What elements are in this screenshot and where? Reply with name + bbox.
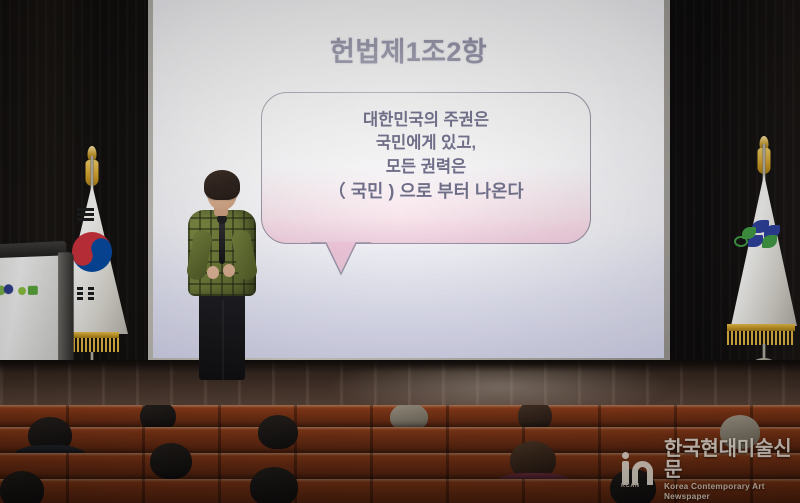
speaker-person	[183, 172, 261, 380]
speaker-right-hand	[223, 264, 235, 277]
speaker-hair	[204, 170, 240, 200]
speaker-left-hand	[207, 266, 219, 279]
institution-logo-icon	[742, 220, 782, 250]
watermark-korean: 한국현대미술신문	[664, 439, 792, 481]
speech-bubble: 대한민국의 주권은 국민에게 있고, 모든 권력은 （ 국민 ) 으로 부터 나…	[261, 92, 591, 244]
podium-side-panel	[58, 252, 74, 372]
institution-flag	[728, 136, 800, 372]
microphone-icon	[219, 220, 225, 264]
speech-bubble-tail-icon	[309, 242, 373, 278]
bubble-line-3: 모든 권력은	[276, 156, 576, 179]
podium-logo-icon	[0, 282, 46, 299]
logo-letter-n	[632, 461, 653, 485]
photo-scene: 헌법제1조2항 대한민국의 주권은 국민에게 있고, 모든 권력은 （ 국민 )…	[0, 0, 800, 503]
podium-top-surface	[0, 241, 66, 259]
bubble-line-4: （ 국민 ) 으로 부터 나온다	[276, 179, 576, 204]
bubble-line-1: 대한민국의 주권은	[276, 109, 576, 132]
watermark-english: Korea Contemporary Art Newspaper	[664, 482, 792, 502]
trigram-gon-icon	[77, 287, 94, 302]
bubble-line-2: 국민에게 있고,	[276, 132, 576, 155]
trigram-geon-icon	[77, 208, 94, 223]
logo-kcan-label: KCAN	[621, 483, 640, 489]
speech-bubble-group: 대한민국의 주권은 국민에게 있고, 모든 권력은 （ 국민 ) 으로 부터 나…	[261, 92, 591, 272]
speech-bubble-text: 대한민국의 주권은 국민에게 있고, 모든 권력은 （ 국민 ) 으로 부터 나…	[262, 93, 590, 204]
watermark-text: 한국현대미술신문 Korea Contemporary Art Newspape…	[664, 439, 792, 502]
podium	[0, 250, 60, 373]
logo-letter-i	[622, 461, 629, 485]
slide-title: 헌법제1조2항	[153, 30, 664, 69]
flag-fringe-right	[727, 324, 795, 331]
kcan-logo-icon: KCAN	[620, 453, 658, 487]
watermark: KCAN 한국현대미술신문 Korea Contemporary Art New…	[620, 449, 792, 491]
institution-flag-cloth	[731, 174, 797, 326]
